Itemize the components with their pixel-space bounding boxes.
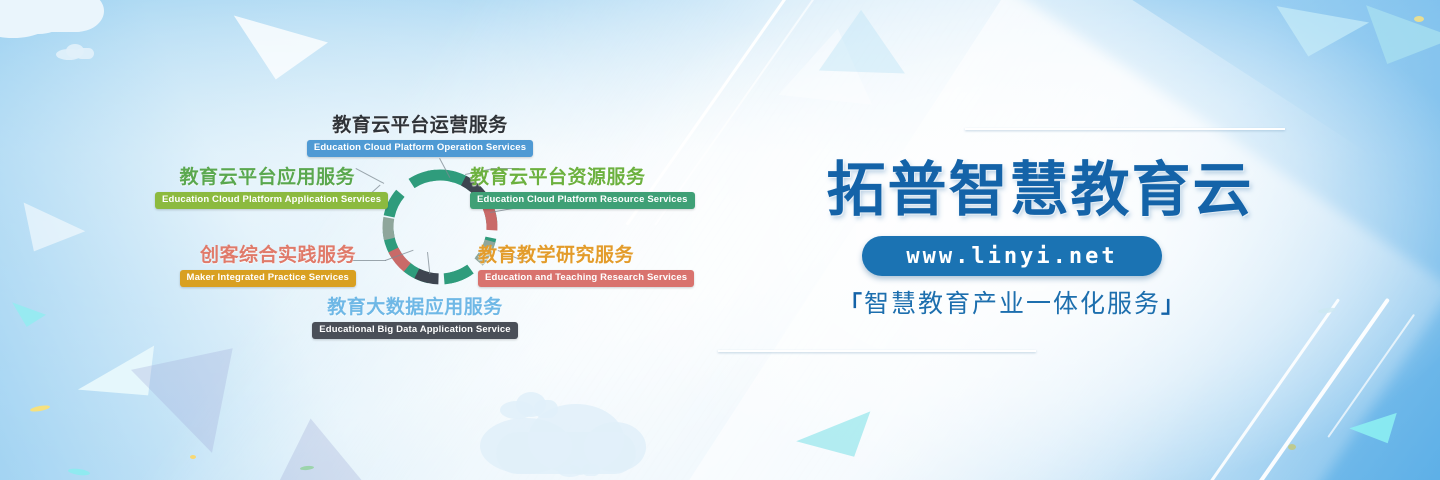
url-text: www.linyi.net <box>906 244 1117 269</box>
node-resource[interactable]: 教育云平台资源服务 Education Cloud Platform Resou… <box>470 166 670 209</box>
url-pill-button[interactable]: www.linyi.net <box>862 236 1162 276</box>
cloud-bottom-center-small <box>500 392 560 420</box>
dash-yellow-2 <box>190 455 196 459</box>
dash-yellow-1 <box>30 404 51 412</box>
node-application-cn: 教育云平台应用服务 <box>155 166 355 189</box>
triangle-upper-mid-2 <box>819 9 907 74</box>
node-maker[interactable]: 创客综合实践服务 Maker Integrated Practice Servi… <box>168 244 356 287</box>
cloud-bottom-tiny <box>558 459 602 477</box>
main-title: 拓普智慧教育云 <box>810 158 1270 222</box>
triangle-left-mid <box>7 203 86 268</box>
node-resource-en: Education Cloud Platform Resource Servic… <box>470 192 695 209</box>
ring-seg-bottom-right <box>450 269 471 278</box>
triangle-topleft <box>220 15 328 90</box>
node-maker-en: Maker Integrated Practice Services <box>180 270 356 287</box>
ring-seg-bottom-left <box>417 274 439 279</box>
dash-yellow-3 <box>1414 16 1424 22</box>
node-application[interactable]: 教育云平台应用服务 Education Cloud Platform Appli… <box>155 166 355 209</box>
node-application-en: Education Cloud Platform Application Ser… <box>155 192 388 209</box>
node-operation-en: Education Cloud Platform Operation Servi… <box>307 140 533 157</box>
node-research-en: Education and Teaching Research Services <box>478 270 694 287</box>
node-research[interactable]: 教育教学研究服务 Education and Teaching Research… <box>478 244 678 287</box>
ring-seg-top-left <box>429 175 456 177</box>
node-operation[interactable]: 教育云平台运营服务 Education Cloud Platform Opera… <box>275 114 565 157</box>
banner-hero: 教育云平台运营服务 Education Cloud Platform Opera… <box>0 0 1440 480</box>
node-bigdata-en: Educational Big Data Application Service <box>312 322 517 339</box>
node-maker-cn: 创客综合实践服务 <box>168 244 356 267</box>
cloud-topleft-small <box>56 44 96 60</box>
node-resource-cn: 教育云平台资源服务 <box>470 166 670 189</box>
node-research-cn: 教育教学研究服务 <box>478 244 678 267</box>
ring-seg-left-upper <box>388 218 389 239</box>
subtitle-open-bracket: 「 <box>839 291 864 317</box>
node-operation-cn: 教育云平台运营服务 <box>275 114 565 137</box>
brand-block: 拓普智慧教育云 www.linyi.net 「智慧教育产业一体化服务」 <box>760 100 1380 370</box>
dash-olive-1 <box>1288 444 1296 450</box>
node-bigdata[interactable]: 教育大数据应用服务 Educational Big Data Applicati… <box>270 296 560 339</box>
node-bigdata-cn: 教育大数据应用服务 <box>270 296 560 319</box>
cloud-topleft <box>0 0 150 46</box>
divider-bottom <box>718 350 1036 352</box>
ring-seg-right-upper <box>488 207 492 230</box>
subtitle-close-bracket: 」 <box>1161 291 1186 317</box>
dash-cyan-1 <box>68 467 91 476</box>
divider-top <box>965 128 1285 130</box>
subtitle: 「智慧教育产业一体化服务」 <box>810 288 1215 320</box>
service-wheel-diagram: 教育云平台运营服务 Education Cloud Platform Opera… <box>160 100 680 360</box>
triangle-bottom-cyan-1 <box>6 302 46 331</box>
subtitle-text: 智慧教育产业一体化服务 <box>864 290 1161 318</box>
triangle-right-mid <box>1269 6 1369 66</box>
